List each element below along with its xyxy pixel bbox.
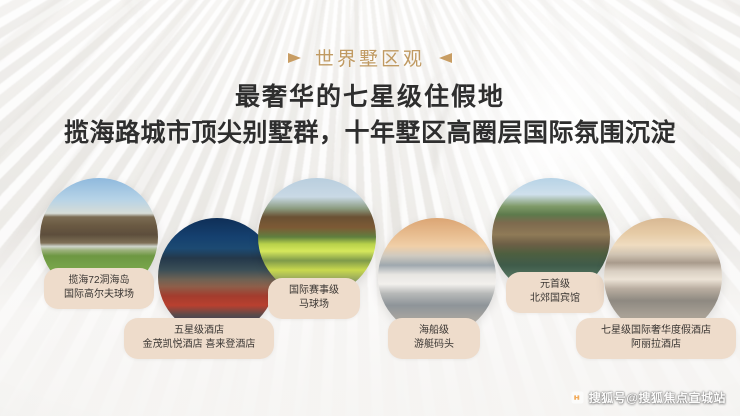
arrow-left-icon <box>288 53 301 63</box>
caption-line-2: 游艇码头 <box>400 338 468 352</box>
eyebrow-label: 世界墅区观 <box>315 44 425 71</box>
caption-line-2: 北郊国宾馆 <box>518 292 592 306</box>
sohu-logo-icon <box>571 391 584 404</box>
caption-line-2: 金茂凯悦酒店 喜来登酒店 <box>136 338 262 352</box>
caption-line-1: 海船级 <box>400 324 468 338</box>
caption-line-1: 国际赛事级 <box>280 284 348 298</box>
watermark-label: 搜狐号@搜狐焦点宣城站 <box>589 389 726 406</box>
feature-caption-polo: 国际赛事级 马球场 <box>268 278 360 319</box>
caption-line-1: 揽海72洞海岛 <box>56 274 142 288</box>
caption-line-1: 七星级国际奢华度假酒店 <box>588 324 724 338</box>
headline-block: 最奢华的七星级住假地 揽海路城市顶尖别墅群，十年墅区高圈层国际氛围沉淀 <box>0 80 740 150</box>
feature-caption-golf: 揽海72洞海岛 国际高尔夫球场 <box>44 268 154 309</box>
arrow-right-icon <box>439 53 452 63</box>
caption-line-1: 五星级酒店 <box>136 324 262 338</box>
headline-line-2: 揽海路城市顶尖别墅群，十年墅区高圈层国际氛围沉淀 <box>0 116 740 150</box>
feature-caption-guesthouse: 元首级 北郊国宾馆 <box>506 272 604 313</box>
caption-line-1: 元首级 <box>518 278 592 292</box>
feature-caption-resort: 七星级国际奢华度假酒店 阿丽拉酒店 <box>576 318 736 359</box>
feature-caption-hotel: 五星级酒店 金茂凯悦酒店 喜来登酒店 <box>124 318 274 359</box>
feature-caption-yacht: 海船级 游艇码头 <box>388 318 480 359</box>
promo-slide: 世界墅区观 最奢华的七星级住假地 揽海路城市顶尖别墅群，十年墅区高圈层国际氛围沉… <box>0 0 740 416</box>
caption-line-2: 国际高尔夫球场 <box>56 288 142 302</box>
eyebrow-banner: 世界墅区观 <box>0 44 740 71</box>
watermark: 搜狐号@搜狐焦点宣城站 <box>571 389 726 406</box>
caption-line-2: 马球场 <box>280 298 348 312</box>
headline-line-1: 最奢华的七星级住假地 <box>0 80 740 114</box>
caption-line-2: 阿丽拉酒店 <box>588 338 724 352</box>
